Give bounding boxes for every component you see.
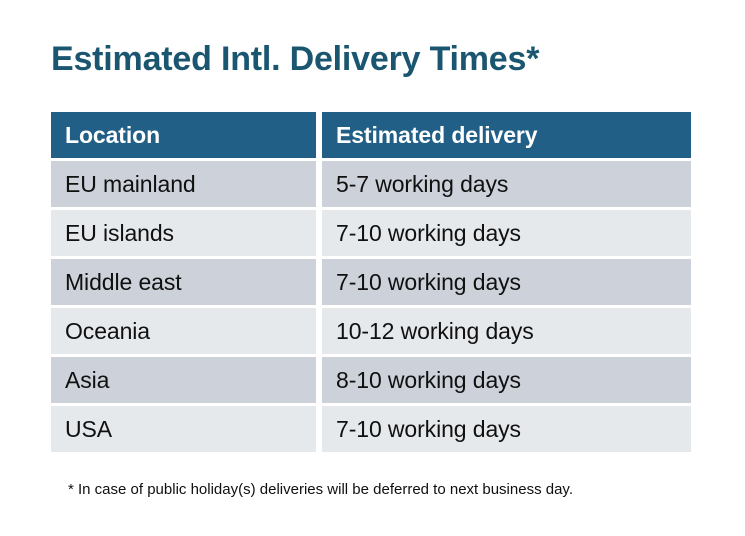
- table-row: Oceania 10-12 working days: [51, 308, 691, 354]
- cell-location: Oceania: [51, 308, 316, 354]
- table-row: EU mainland 5-7 working days: [51, 161, 691, 207]
- cell-location: Asia: [51, 357, 316, 403]
- page-title: Estimated Intl. Delivery Times*: [51, 38, 539, 80]
- table-row: Asia 8-10 working days: [51, 357, 691, 403]
- cell-delivery: 7-10 working days: [322, 259, 691, 305]
- column-header-estimated-delivery: Estimated delivery: [322, 112, 691, 158]
- table-header-row: Location Estimated delivery: [51, 112, 691, 158]
- delivery-times-table: Location Estimated delivery EU mainland …: [51, 112, 691, 455]
- cell-delivery: 5-7 working days: [322, 161, 691, 207]
- cell-delivery: 7-10 working days: [322, 406, 691, 452]
- cell-location: EU islands: [51, 210, 316, 256]
- cell-location: USA: [51, 406, 316, 452]
- table-row: EU islands 7-10 working days: [51, 210, 691, 256]
- cell-delivery: 7-10 working days: [322, 210, 691, 256]
- cell-location: EU mainland: [51, 161, 316, 207]
- cell-delivery: 8-10 working days: [322, 357, 691, 403]
- table-row: Middle east 7-10 working days: [51, 259, 691, 305]
- table-row: USA 7-10 working days: [51, 406, 691, 452]
- footnote-text: * In case of public holiday(s) deliverie…: [68, 481, 573, 498]
- cell-delivery: 10-12 working days: [322, 308, 691, 354]
- column-header-location: Location: [51, 112, 316, 158]
- cell-location: Middle east: [51, 259, 316, 305]
- delivery-times-page: Estimated Intl. Delivery Times* Location…: [0, 0, 745, 536]
